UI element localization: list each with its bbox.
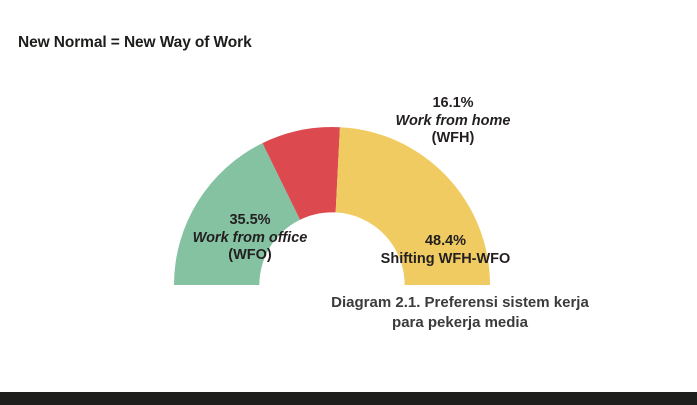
- slice-name-shifting: Shifting WFH-WFO: [353, 251, 538, 269]
- slice-name-wfo: Work from office: [155, 230, 345, 248]
- slice-label-shifting: 48.4% Shifting WFH-WFO: [353, 233, 538, 268]
- slice-abbr-wfh: (WFH): [363, 130, 543, 148]
- slide-canvas: New Normal = New Way of Work 16.1% Work …: [0, 0, 697, 405]
- chart-caption-line1: Diagram 2.1. Preferensi sistem kerja: [250, 293, 670, 313]
- slice-label-wfo: 35.5% Work from office (WFO): [155, 212, 345, 265]
- slice-name-wfh: Work from home: [363, 113, 543, 131]
- slice-abbr-wfo: (WFO): [155, 247, 345, 265]
- slice-percent-wfo: 35.5%: [155, 212, 345, 230]
- chart-caption: Diagram 2.1. Preferensi sistem kerja par…: [250, 293, 670, 333]
- bottom-bar: [0, 392, 697, 405]
- slice-percent-wfh: 16.1%: [363, 95, 543, 113]
- chart-caption-line2: para pekerja media: [250, 313, 670, 333]
- page-title: New Normal = New Way of Work: [18, 34, 252, 52]
- half-donut-chart: 16.1% Work from home (WFH) 35.5% Work fr…: [160, 85, 520, 355]
- slice-label-wfh: 16.1% Work from home (WFH): [363, 95, 543, 148]
- slice-percent-shifting: 48.4%: [353, 233, 538, 251]
